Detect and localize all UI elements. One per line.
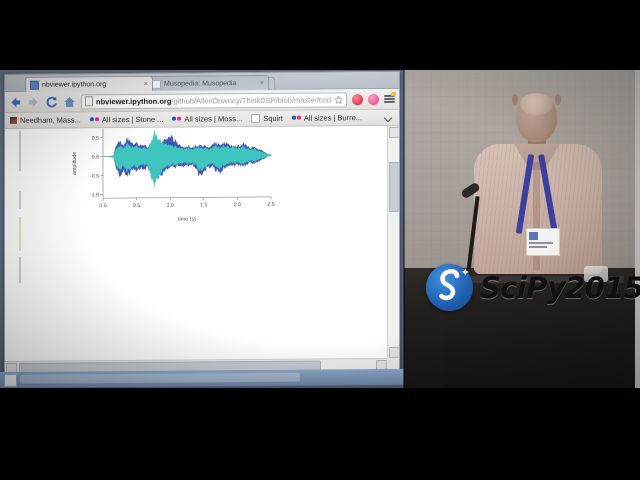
scipy-logo: ✦ SciPy2015	[426, 264, 640, 311]
tab-close-icon[interactable]: ×	[144, 80, 148, 87]
scroll-up-icon[interactable]	[389, 127, 399, 138]
tab-title: Musopedia: Musopedia	[164, 80, 236, 88]
page-viewport: 0.00.51.01.52.02.5time (s)0.50.0-0.5-1.0…	[5, 126, 399, 373]
svg-text:0.5: 0.5	[92, 136, 99, 142]
bookmark-item-stone[interactable]: All sizes | Stone ...	[90, 115, 164, 125]
url-text: nbviewer.ipython.org/github/AllenDowney/…	[96, 95, 331, 106]
bookmark-label: All sizes | Moss...	[184, 114, 242, 123]
tab-favicon-icon	[30, 80, 39, 89]
url-domain: nbviewer.ipython.org	[96, 96, 171, 106]
letterbox-bottom	[0, 388, 640, 480]
url-path: /github/AllenDowney/ThinkDSP/blob/master…	[171, 95, 331, 105]
letterbox-top	[0, 0, 640, 70]
bookmark-label: Squirt	[263, 114, 283, 123]
screen-recording-frame: nbviewer.ipython.org × Musopedia: Musope…	[0, 0, 640, 480]
svg-text:-0.5: -0.5	[90, 173, 99, 179]
flickr-icon	[292, 115, 301, 122]
svg-text:0.0: 0.0	[99, 203, 106, 209]
doc-icon	[251, 114, 260, 123]
svg-text:1.0: 1.0	[167, 203, 174, 209]
flickr-icon	[90, 116, 99, 123]
taskbar-start-button[interactable]	[4, 374, 17, 387]
camera-right-edge	[635, 70, 640, 388]
speaker-head	[516, 92, 557, 142]
chevron-down-icon[interactable]	[384, 112, 394, 122]
vertical-scroll-thumb[interactable]	[389, 162, 399, 212]
bookmark-item-squirt[interactable]: Squirt	[251, 114, 283, 123]
desktop-taskbar[interactable]	[0, 369, 404, 388]
svg-text:0.5: 0.5	[133, 203, 140, 209]
address-bar[interactable]: nbviewer.ipython.org/github/AllenDowney/…	[81, 92, 347, 109]
bookmark-star-icon[interactable]	[334, 95, 343, 104]
tab-close-icon[interactable]: ×	[260, 79, 264, 86]
svg-text:2.5: 2.5	[267, 202, 274, 208]
scipy-snake-icon: ✦	[426, 264, 473, 311]
bookmark-item-needham[interactable]: Needham, Mass...	[10, 115, 81, 125]
flickr-icon	[172, 116, 181, 123]
extension-icon-2[interactable]	[368, 94, 379, 105]
speaker-ear-left	[512, 94, 518, 105]
waveform-plot: 0.00.51.01.52.02.5time (s)0.50.0-0.5-1.0…	[67, 126, 277, 225]
cell-gutter	[19, 129, 21, 362]
plot-svg: 0.00.51.01.52.02.5time (s)0.50.0-0.5-1.0…	[67, 126, 277, 225]
forward-arrow-icon	[27, 95, 40, 108]
extension-icon-1[interactable]	[352, 94, 363, 105]
hamburger-menu-icon[interactable]	[384, 93, 395, 104]
tab-nbviewer[interactable]: nbviewer.ipython.org ×	[25, 76, 153, 92]
bookmark-item-moss[interactable]: All sizes | Moss...	[172, 114, 242, 124]
svg-text:0.0: 0.0	[92, 155, 99, 161]
svg-text:amplitude: amplitude	[72, 152, 78, 175]
taskbar-window-strip[interactable]	[20, 373, 300, 384]
speaker-camera-panel: ✦ SciPy2015	[404, 70, 640, 388]
reload-icon[interactable]	[45, 95, 58, 108]
svg-text:-1.0: -1.0	[90, 192, 99, 198]
scroll-down-icon[interactable]	[389, 347, 399, 358]
tab-title: nbviewer.ipython.org	[42, 81, 106, 89]
page-icon	[85, 96, 93, 106]
svg-text:2.0: 2.0	[234, 202, 241, 208]
notebook-page: 0.00.51.01.52.02.5time (s)0.50.0-0.5-1.0…	[5, 126, 388, 362]
speaker-ear-right	[555, 94, 561, 105]
panel-seam	[403, 70, 405, 388]
browser-window: nbviewer.ipython.org × Musopedia: Musope…	[4, 71, 400, 376]
svg-text:1.5: 1.5	[200, 202, 207, 208]
tab-favicon-icon	[152, 79, 161, 88]
home-icon[interactable]	[63, 95, 76, 108]
bookmark-label: All sizes | Burre...	[304, 113, 362, 122]
svg-text:time (s): time (s)	[178, 216, 196, 222]
sparkle-icon: ✦	[461, 268, 470, 279]
conference-badge	[526, 228, 560, 256]
bookmark-label: Needham, Mass...	[20, 115, 81, 124]
vertical-scrollbar[interactable]	[387, 126, 399, 359]
scipy-logo-text: SciPy2015	[480, 271, 640, 305]
photo-icon	[10, 117, 17, 124]
video-content: nbviewer.ipython.org × Musopedia: Musope…	[0, 70, 640, 388]
bookmark-item-burre[interactable]: All sizes | Burre...	[292, 113, 362, 123]
screen-share-panel: nbviewer.ipython.org × Musopedia: Musope…	[0, 70, 404, 388]
tab-musopedia[interactable]: Musopedia: Musopedia ×	[147, 75, 269, 91]
back-arrow-icon[interactable]	[9, 95, 22, 108]
bookmark-label: All sizes | Stone ...	[102, 115, 164, 124]
